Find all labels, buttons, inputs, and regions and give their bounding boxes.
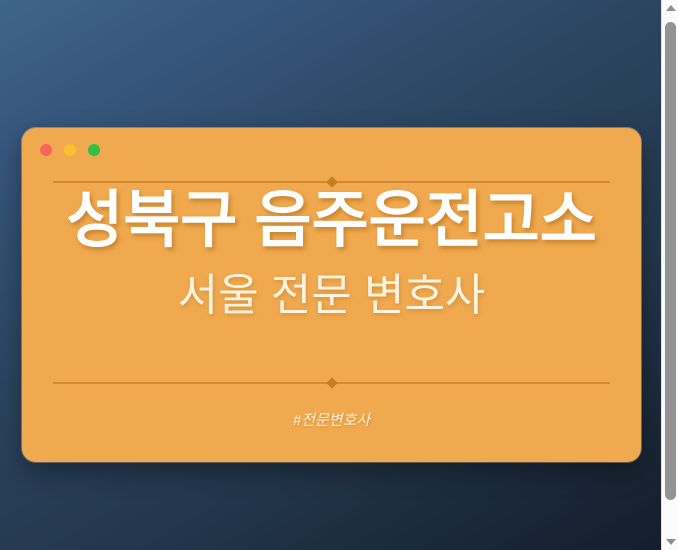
hashtag-label: #전문변호사 — [22, 409, 641, 430]
window-traffic-lights — [40, 144, 100, 156]
maximize-button[interactable] — [88, 144, 100, 156]
card-content: 성북구 음주운전고소 서울 전문 변호사 — [22, 190, 641, 318]
scroll-down-arrow-icon[interactable] — [662, 534, 678, 550]
page-subtitle: 서울 전문 변호사 — [22, 274, 641, 318]
scroll-up-arrow-icon[interactable] — [662, 0, 678, 16]
presentation-card: 성북구 음주운전고소 서울 전문 변호사 #전문변호사 — [22, 128, 641, 462]
divider-diamond-icon — [326, 377, 337, 388]
scrollbar-thumb[interactable] — [665, 22, 676, 500]
minimize-button[interactable] — [64, 144, 76, 156]
page-title: 성북구 음주운전고소 — [22, 190, 641, 252]
page-root: 성북구 음주운전고소 서울 전문 변호사 #전문변호사 — [0, 0, 678, 550]
divider-bottom — [53, 377, 610, 388]
close-button[interactable] — [40, 144, 52, 156]
vertical-scrollbar[interactable] — [661, 0, 678, 550]
